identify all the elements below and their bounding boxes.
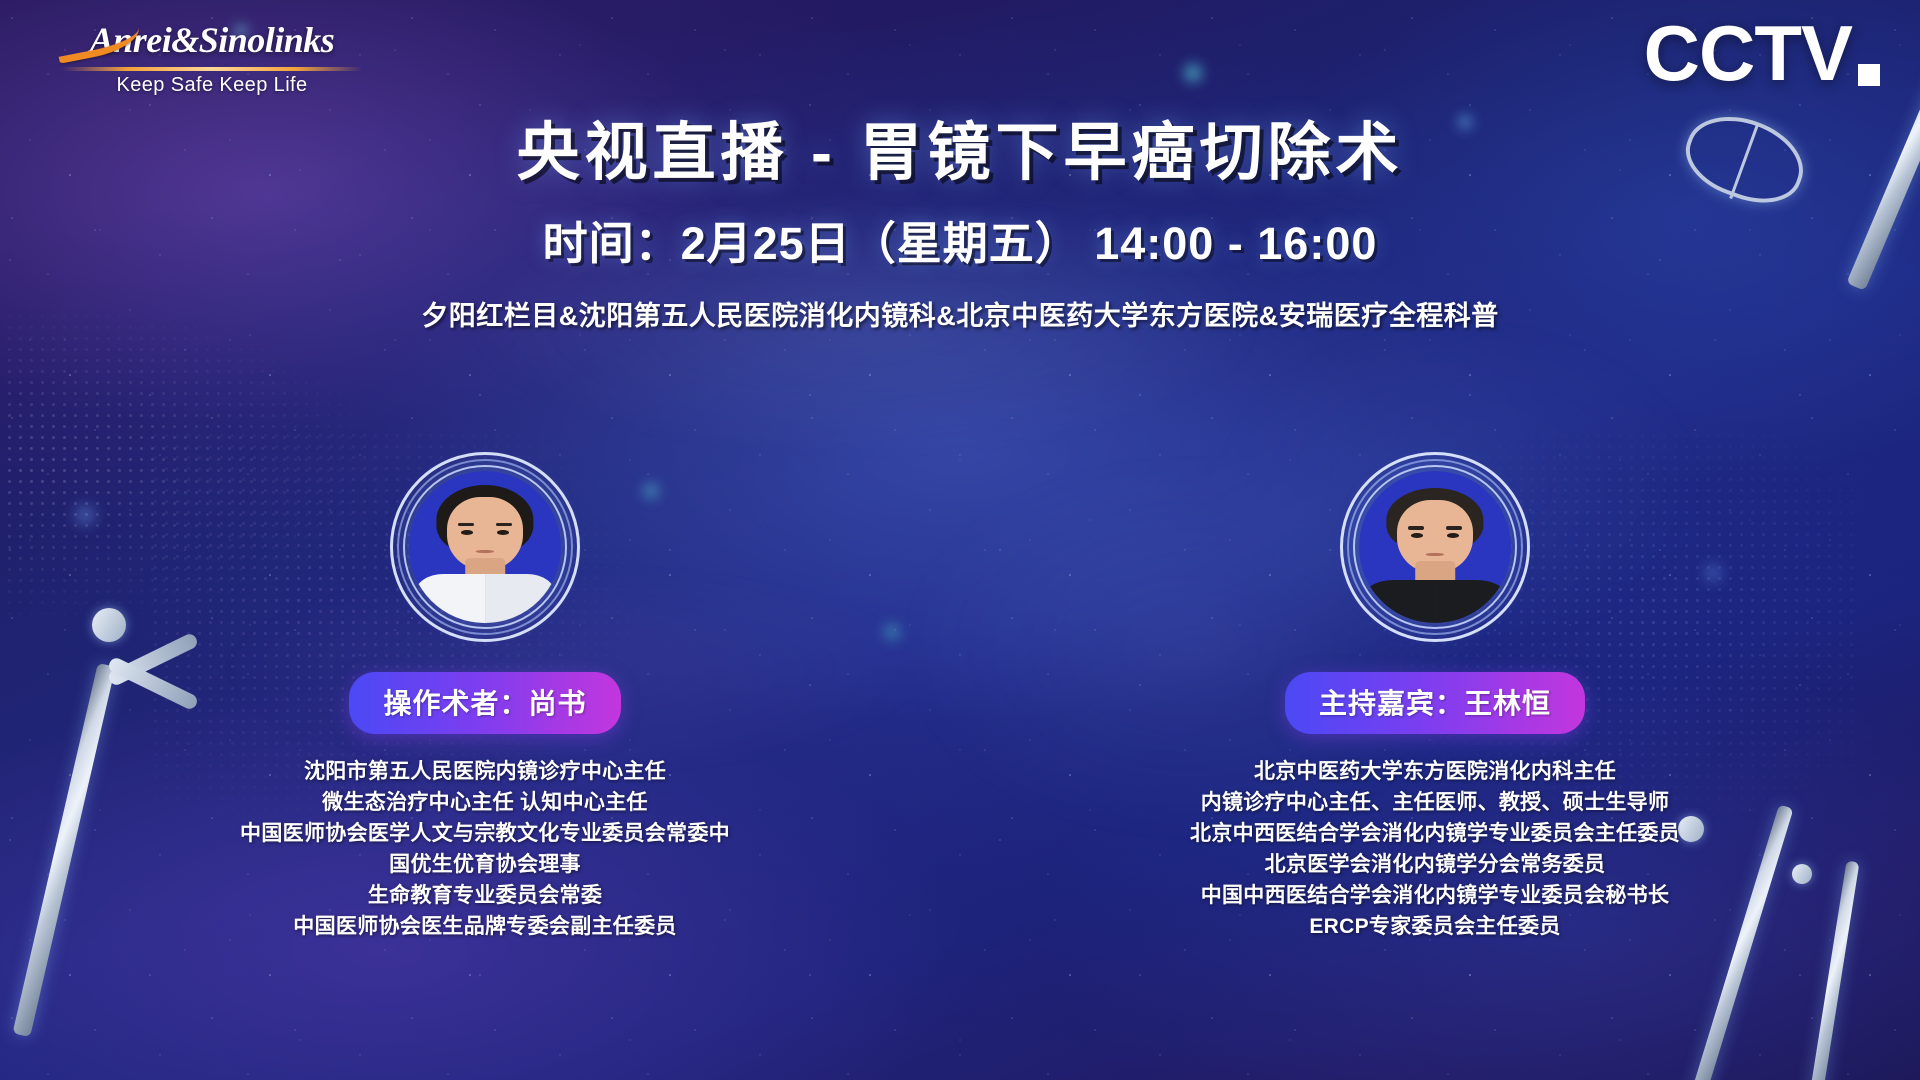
credential-item: 北京中西医结合学会消化内镜学专业委员会主任委员 — [1175, 818, 1695, 849]
credential-item: 微生态治疗中心主任 认知中心主任 — [225, 787, 745, 818]
brand-logo-divider — [62, 67, 362, 71]
avatar — [1340, 452, 1530, 642]
jacket-right — [1435, 580, 1508, 623]
cctv-logo-text: CCTV — [1644, 16, 1852, 90]
brand-tagline: Keep Safe Keep Life — [62, 74, 362, 97]
cctv-logo: CCTV — [1644, 16, 1880, 90]
credential-item: 北京医学会消化内镜学分会常务委员 — [1175, 849, 1695, 880]
credentials-list-operator: 沈阳市第五人民医院内镜诊疗中心主任 微生态治疗中心主任 认知中心主任 中国医师协… — [225, 756, 745, 942]
avatar — [390, 452, 580, 642]
bokeh-dot — [1180, 60, 1206, 86]
headline-block: 央视直播 - 胃镜下早癌切除术 时间：2月25日（星期五） 14:00 - 16… — [0, 118, 1920, 333]
avatar-photo-operator — [409, 471, 561, 623]
coat-left — [415, 574, 485, 623]
torso-jacket — [1365, 580, 1505, 623]
portrait-illustration — [1359, 471, 1511, 623]
credential-item: 国优生优育协会理事 — [225, 849, 745, 880]
eyebrow-left — [1408, 526, 1425, 530]
cctv-logo-dot — [1858, 64, 1880, 86]
credential-item: ERCP专家委员会主任委员 — [1175, 911, 1695, 942]
speaker-badge-operator: 操作术者：尚书 — [349, 672, 620, 734]
portrait-illustration — [409, 471, 561, 623]
page-title: 央视直播 - 胃镜下早癌切除术 — [0, 118, 1920, 189]
credential-item: 沈阳市第五人民医院内镜诊疗中心主任 — [225, 756, 745, 787]
event-subtitle: 夕阳红栏目&沈阳第五人民医院消化内镜科&北京中医药大学东方医院&安瑞医疗全程科普 — [0, 294, 1920, 333]
speaker-badge-host: 主持嘉宾：王林恒 — [1285, 672, 1585, 734]
credential-item: 中国医师协会医生品牌专委会副主任委员 — [225, 911, 745, 942]
brand-logo-mark: Anrei&Sinolinks — [62, 16, 362, 66]
jacket-left — [1362, 580, 1435, 623]
event-time: 时间：2月25日（星期五） 14:00 - 16:00 — [0, 207, 1920, 272]
credential-item: 中国中西医结合学会消化内镜学专业委员会秘书长 — [1175, 880, 1695, 911]
speaker-card-operator: 操作术者：尚书 沈阳市第五人民医院内镜诊疗中心主任 微生态治疗中心主任 认知中心… — [225, 452, 745, 942]
credential-item: 内镜诊疗中心主任、主任医师、教授、硕士生导师 — [1175, 787, 1695, 818]
credential-item: 中国医师协会医学人文与宗教文化专业委员会常委中 — [225, 818, 745, 849]
torso-white-coat — [415, 574, 555, 623]
credential-item: 北京中医药大学东方医院消化内科主任 — [1175, 756, 1695, 787]
credential-item: 生命教育专业委员会常委 — [225, 880, 745, 911]
eyebrow-right — [1446, 526, 1463, 530]
speakers-section: 操作术者：尚书 沈阳市第五人民医院内镜诊疗中心主任 微生态治疗中心主任 认知中心… — [0, 452, 1920, 942]
speaker-card-host: 主持嘉宾：王林恒 北京中医药大学东方医院消化内科主任 内镜诊疗中心主任、主任医师… — [1175, 452, 1695, 942]
brand-logo: Anrei&Sinolinks Keep Safe Keep Life — [62, 16, 362, 97]
credentials-list-host: 北京中医药大学东方医院消化内科主任 内镜诊疗中心主任、主任医师、教授、硕士生导师… — [1175, 756, 1695, 942]
eyebrow-right — [496, 523, 513, 527]
coat-right — [485, 574, 555, 623]
avatar-photo-host — [1359, 471, 1511, 623]
eyebrow-left — [458, 523, 475, 527]
